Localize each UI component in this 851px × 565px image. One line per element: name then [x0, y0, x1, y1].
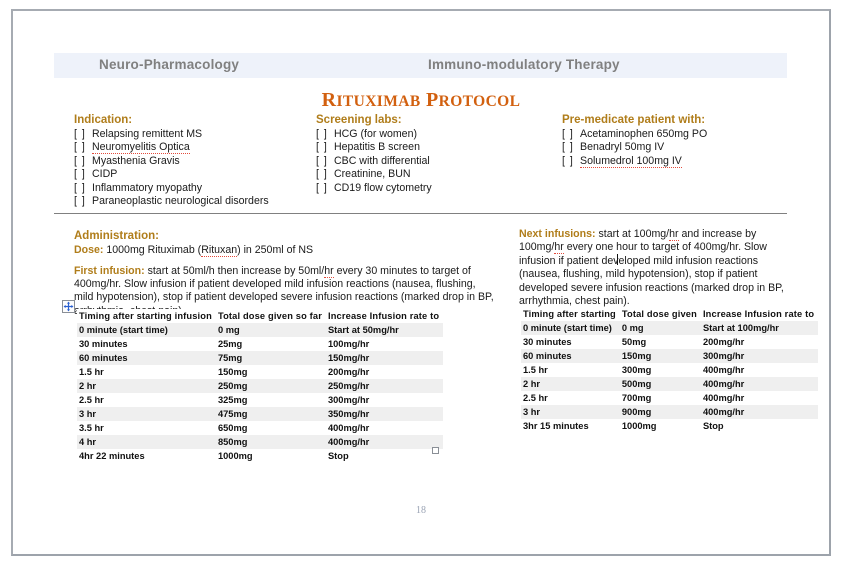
cell-timing: 3 hr	[77, 407, 216, 421]
cell-timing: 30 minutes	[521, 335, 620, 349]
running-header: Neuro-Pharmacology Immuno-modulatory The…	[54, 53, 787, 78]
table-resize-handle[interactable]	[432, 447, 439, 454]
cell-timing: 2 hr	[521, 377, 620, 391]
checklist-screening-heading: Screening labs:	[316, 114, 432, 126]
list-item[interactable]: [ ]CIDP	[74, 168, 269, 181]
column-header-timing: Timing after starting infusion	[77, 309, 216, 323]
list-item-label: Relapsing remittent MS	[92, 128, 202, 140]
page-number: 18	[13, 505, 829, 516]
column-header-total-dose: Total dose given	[620, 307, 701, 321]
cell-total-dose: 500mg	[620, 377, 701, 391]
cell-rate: 300mg/hr	[326, 393, 443, 407]
page-canvas[interactable]: Neuro-Pharmacology Immuno-modulatory The…	[13, 11, 829, 554]
table-row[interactable]: 60 minutes 150mg 300mg/hr	[521, 349, 818, 363]
page-sheet: Neuro-Pharmacology Immuno-modulatory The…	[11, 9, 831, 556]
list-item[interactable]: [ ]Creatinine, BUN	[316, 168, 432, 181]
cell-total-dose: 900mg	[620, 405, 701, 419]
list-item[interactable]: [ ]Relapsing remittent MS	[74, 128, 269, 141]
list-item[interactable]: [ ]Myasthenia Gravis	[74, 155, 269, 168]
cell-total-dose: 150mg	[620, 349, 701, 363]
checkbox-icon[interactable]: [ ]	[316, 155, 328, 168]
table-row[interactable]: 30 minutes 50mg 200mg/hr	[521, 335, 818, 349]
list-item-label: CIDP	[92, 168, 117, 180]
checklist-indication-heading: Indication:	[74, 114, 269, 126]
list-item[interactable]: [ ]CBC with differential	[316, 155, 432, 168]
administration-heading: Administration:	[74, 229, 494, 243]
list-item-label: Inflammatory myopathy	[92, 182, 202, 194]
table-row[interactable]: 2 hr 500mg 400mg/hr	[521, 377, 818, 391]
cell-total-dose: 25mg	[216, 337, 326, 351]
cell-total-dose: 150mg	[216, 365, 326, 379]
cell-total-dose: 250mg	[216, 379, 326, 393]
checkbox-icon[interactable]: [ ]	[316, 182, 328, 195]
cell-timing: 3hr 15 minutes	[521, 419, 620, 433]
table-row[interactable]: 30 minutes 25mg 100mg/hr	[77, 337, 443, 351]
first-infusion-text-a: start at 50ml/h then increase by 50ml/	[145, 265, 325, 277]
checkbox-icon[interactable]: [ ]	[316, 168, 328, 181]
cell-rate: Stop	[326, 449, 443, 463]
cell-rate: 150mg/hr	[326, 351, 443, 365]
dose-value-a: 1000mg Rituximab (	[103, 244, 201, 256]
column-header-increase-rate: Increase Infusion rate to	[326, 309, 443, 323]
checklist-premedicate-items: [ ]Acetaminophen 650mg PO [ ]Benadryl 50…	[562, 128, 707, 168]
title-cap-r: R	[322, 89, 337, 111]
cell-rate: Start at 50mg/hr	[326, 323, 443, 337]
table-row[interactable]: 0 minute (start time) 0 mg Start at 100m…	[521, 321, 818, 335]
list-item[interactable]: [ ]Inflammatory myopathy	[74, 182, 269, 195]
table-row[interactable]: 3 hr 900mg 400mg/hr	[521, 405, 818, 419]
list-item-label: Benadryl 50mg IV	[580, 141, 664, 153]
list-item[interactable]: [ ]Hepatitis B screen	[316, 141, 432, 154]
cell-rate: 400mg/hr	[701, 363, 818, 377]
list-item[interactable]: [ ]Benadryl 50mg IV	[562, 141, 707, 154]
checklist-premedicate-heading: Pre-medicate patient with:	[562, 114, 707, 126]
table-row[interactable]: 4hr 22 minutes 1000mg Stop	[77, 449, 443, 463]
table-row[interactable]: 3 hr 475mg 350mg/hr	[77, 407, 443, 421]
cell-timing: 30 minutes	[77, 337, 216, 351]
checkbox-icon[interactable]: [ ]	[74, 182, 86, 195]
checklist-indication-items: [ ]Relapsing remittent MS [ ]Neuromyelit…	[74, 128, 269, 208]
list-item[interactable]: [ ]Solumedrol 100mg IV	[562, 155, 707, 168]
cell-rate: 200mg/hr	[701, 335, 818, 349]
table-row[interactable]: 2.5 hr 700mg 400mg/hr	[521, 391, 818, 405]
checkbox-icon[interactable]: [ ]	[74, 128, 86, 141]
list-item-label: HCG (for women)	[334, 128, 417, 140]
text-cursor	[617, 254, 618, 265]
cell-total-dose: 850mg	[216, 435, 326, 449]
table-row[interactable]: 3hr 15 minutes 1000mg Stop	[521, 419, 818, 433]
table-move-handle[interactable]	[62, 300, 75, 313]
next-infusions-text-a: start at 100mg/	[596, 228, 670, 240]
table-row[interactable]: 60 minutes 75mg 150mg/hr	[77, 351, 443, 365]
cell-rate: 400mg/hr	[326, 421, 443, 435]
cell-total-dose: 475mg	[216, 407, 326, 421]
cell-timing: 2 hr	[77, 379, 216, 393]
list-item-label: Solumedrol 100mg IV	[580, 155, 682, 168]
list-item[interactable]: [ ]Neuromyelitis Optica	[74, 141, 269, 154]
cell-total-dose: 1000mg	[620, 419, 701, 433]
cell-timing: 2.5 hr	[77, 393, 216, 407]
next-infusions-paragraph: Next infusions: start at 100mg/hr and in…	[519, 228, 797, 308]
page-title: RITUXIMAB PROTOCOL	[13, 89, 829, 112]
checkbox-icon[interactable]: [ ]	[562, 141, 574, 154]
section-divider	[54, 213, 787, 214]
title-cap-p: P	[426, 89, 439, 111]
cell-total-dose: 325mg	[216, 393, 326, 407]
cell-timing: 3.5 hr	[77, 421, 216, 435]
cell-timing: 1.5 hr	[521, 363, 620, 377]
table-row[interactable]: 0 minute (start time) 0 mg Start at 50mg…	[77, 323, 443, 337]
cell-rate: 100mg/hr	[326, 337, 443, 351]
administration-section: Administration: Dose: 1000mg Rituximab (…	[74, 229, 494, 318]
checkbox-icon[interactable]: [ ]	[74, 141, 86, 154]
list-item-label: Myasthenia Gravis	[92, 155, 180, 167]
cell-rate: Stop	[701, 419, 818, 433]
dose-value-b: ) in 250ml of NS	[237, 244, 313, 256]
column-header-timing: Timing after starting	[521, 307, 620, 321]
cell-timing: 2.5 hr	[521, 391, 620, 405]
column-header-increase-rate: Increase Infusion rate to	[701, 307, 818, 321]
list-item-label: CBC with differential	[334, 155, 430, 167]
cell-rate: 400mg/hr	[701, 377, 818, 391]
abbrev-hr: hr	[669, 228, 678, 241]
cell-rate: 350mg/hr	[326, 407, 443, 421]
cell-rate: 250mg/hr	[326, 379, 443, 393]
cell-timing: 3 hr	[521, 405, 620, 419]
table-row[interactable]: 3.5 hr 650mg 400mg/hr	[77, 421, 443, 435]
list-item[interactable]: [ ]CD19 flow cytometry	[316, 182, 432, 195]
list-item-label: CD19 flow cytometry	[334, 182, 432, 194]
cell-rate: 300mg/hr	[701, 349, 818, 363]
list-item-label: Hepatitis B screen	[334, 141, 420, 153]
checkbox-icon[interactable]: [ ]	[74, 195, 86, 208]
first-infusion-schedule-table[interactable]: Timing after starting infusion Total dos…	[77, 309, 443, 463]
next-infusions-label: Next infusions:	[519, 228, 596, 240]
dose-drug-name: Rituxan	[201, 244, 237, 257]
header-left-text: Neuro-Pharmacology	[99, 57, 239, 72]
cell-timing: 60 minutes	[77, 351, 216, 365]
cell-total-dose: 300mg	[620, 363, 701, 377]
cell-total-dose: 75mg	[216, 351, 326, 365]
table-header-row: Timing after starting Total dose given I…	[521, 307, 818, 321]
cell-total-dose: 700mg	[620, 391, 701, 405]
checkbox-icon[interactable]: [ ]	[562, 155, 574, 168]
cell-timing: 0 minute (start time)	[521, 321, 620, 335]
first-infusion-label: First infusion:	[74, 265, 145, 277]
list-item[interactable]: [ ]HCG (for women)	[316, 128, 432, 141]
table-row[interactable]: 2 hr 250mg 250mg/hr	[77, 379, 443, 393]
next-infusion-schedule-table[interactable]: Timing after starting Total dose given I…	[521, 307, 818, 433]
cell-timing: 4 hr	[77, 435, 216, 449]
list-item-label: Neuromyelitis Optica	[92, 141, 190, 154]
checklist-indication: Indication: [ ]Relapsing remittent MS [ …	[74, 114, 269, 208]
abbrev-hr: hr	[554, 241, 563, 254]
administration-dose-line: Dose: 1000mg Rituximab (Rituxan) in 250m…	[74, 243, 494, 257]
checkbox-icon[interactable]: [ ]	[562, 128, 574, 141]
table-header-row: Timing after starting infusion Total dos…	[77, 309, 443, 323]
list-item-label: Acetaminophen 650mg PO	[580, 128, 707, 140]
cell-total-dose: 0 mg	[216, 323, 326, 337]
title-rest-ituximab: ITUXIMAB	[336, 93, 420, 110]
checklist-screening-labs: Screening labs: [ ]HCG (for women) [ ]He…	[316, 114, 432, 195]
checkbox-icon[interactable]: [ ]	[316, 141, 328, 154]
cell-rate: 200mg/hr	[326, 365, 443, 379]
cell-total-dose: 50mg	[620, 335, 701, 349]
next-infusions-section: Next infusions: start at 100mg/hr and in…	[519, 228, 797, 308]
cell-timing: 4hr 22 minutes	[77, 449, 216, 463]
list-item[interactable]: [ ]Acetaminophen 650mg PO	[562, 128, 707, 141]
cell-timing: 1.5 hr	[77, 365, 216, 379]
dose-label: Dose:	[74, 244, 103, 256]
table-row[interactable]: 2.5 hr 325mg 300mg/hr	[77, 393, 443, 407]
header-right-text: Immuno-modulatory Therapy	[428, 57, 620, 72]
table-row[interactable]: 1.5 hr 300mg 400mg/hr	[521, 363, 818, 377]
checklist-premedicate: Pre-medicate patient with: [ ]Acetaminop…	[562, 114, 707, 168]
title-rest-rotocol: ROTOCOL	[439, 93, 521, 110]
abbrev-hr: hr	[324, 265, 333, 278]
cell-rate: Start at 100mg/hr	[701, 321, 818, 335]
document-viewport[interactable]: Neuro-Pharmacology Immuno-modulatory The…	[0, 0, 851, 565]
checklist-screening-items: [ ]HCG (for women) [ ]Hepatitis B screen…	[316, 128, 432, 195]
column-header-total-dose: Total dose given so far	[216, 309, 326, 323]
cell-total-dose: 0 mg	[620, 321, 701, 335]
cell-rate: 400mg/hr	[326, 435, 443, 449]
table-row[interactable]: 1.5 hr 150mg 200mg/hr	[77, 365, 443, 379]
checkbox-icon[interactable]: [ ]	[74, 155, 86, 168]
checkbox-icon[interactable]: [ ]	[316, 128, 328, 141]
list-item-label: Paraneoplastic neurological disorders	[92, 195, 269, 207]
cell-timing: 0 minute (start time)	[77, 323, 216, 337]
cell-total-dose: 1000mg	[216, 449, 326, 463]
list-item-label: Creatinine, BUN	[334, 168, 411, 180]
cell-timing: 60 minutes	[521, 349, 620, 363]
cell-total-dose: 650mg	[216, 421, 326, 435]
list-item[interactable]: [ ]Paraneoplastic neurological disorders	[74, 195, 269, 208]
cell-rate: 400mg/hr	[701, 391, 818, 405]
cell-rate: 400mg/hr	[701, 405, 818, 419]
table-row[interactable]: 4 hr 850mg 400mg/hr	[77, 435, 443, 449]
checkbox-icon[interactable]: [ ]	[74, 168, 86, 181]
